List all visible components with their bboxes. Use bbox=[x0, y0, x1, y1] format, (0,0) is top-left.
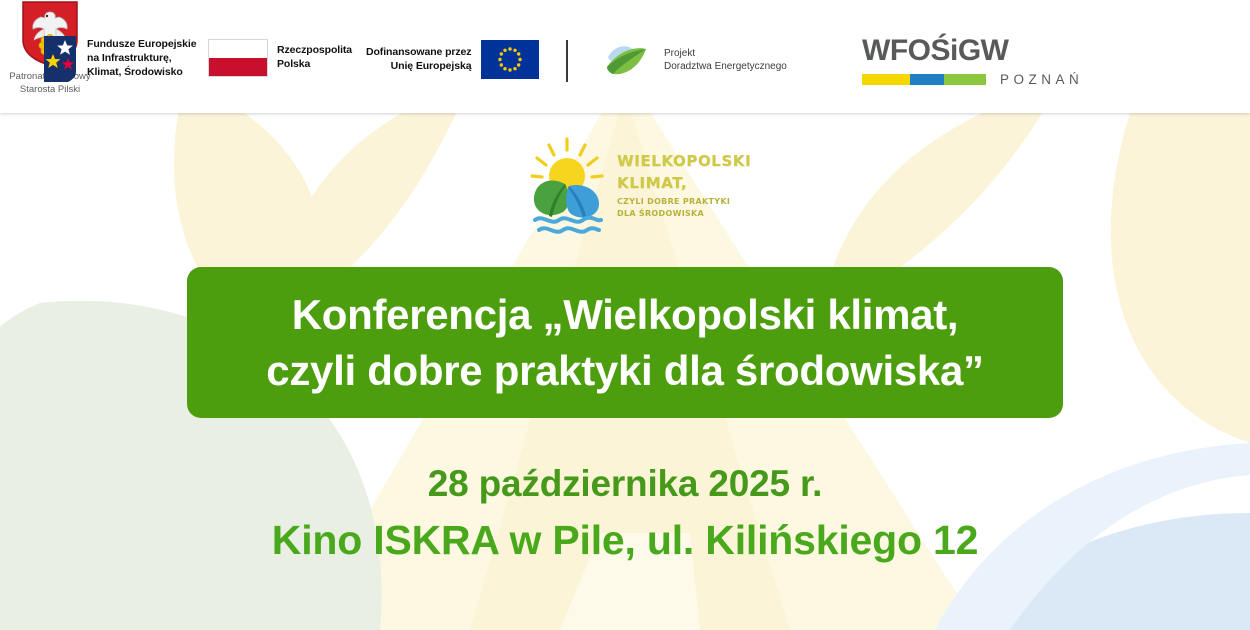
brand-logo-line-4: DLA ŚRODOWISKA bbox=[617, 210, 751, 218]
vertical-divider bbox=[566, 40, 568, 82]
logo-rzeczpospolita-polska: Rzeczpospolita Polska bbox=[208, 39, 352, 77]
logo-label-dofinansowane-ue: Dofinansowane przez Unię Europejską bbox=[366, 46, 471, 74]
poland-flag-icon bbox=[208, 39, 268, 77]
logo-dofinansowane-ue: Dofinansowane przez Unię Europejską bbox=[366, 40, 539, 79]
brand-logo-line-1: WIELKOPOLSKI bbox=[617, 154, 751, 169]
event-venue: Kino ISKRA w Pile, ul. Kilińskiego 12 bbox=[0, 516, 1250, 564]
conference-poster: Fundusze Europejskie na Infrastrukturę, … bbox=[0, 0, 1250, 630]
fundusze-europejskie-stars-logo bbox=[42, 34, 78, 84]
partner-logo-bar: Fundusze Europejskie na Infrastrukturę, … bbox=[0, 0, 1250, 113]
logo-label-fundusze-europejskie: Fundusze Europejskie na Infrastrukturę, … bbox=[87, 38, 196, 80]
logo-label-projekt-doradztwa-energetycznego: Projekt Doradztwa Energetycznego bbox=[664, 47, 787, 74]
logo-wfosigw-poznan: WFOŚiGW POZNAŃ bbox=[862, 36, 1083, 87]
logo-label-rzeczpospolita-polska: Rzeczpospolita Polska bbox=[277, 44, 352, 72]
conference-title-banner: Konferencja „Wielkopolski klimat, czyli … bbox=[187, 267, 1063, 418]
logo-projekt-doradztwa-energetycznego: Projekt Doradztwa Energetycznego bbox=[604, 40, 787, 80]
brand-logo-line-2: KLIMAT, bbox=[617, 176, 751, 191]
eu-flag-icon bbox=[481, 40, 539, 79]
brand-logo-wielkopolski-klimat: WIELKOPOLSKI KLIMAT, CZYLI DOBRE PRAKTYK… bbox=[521, 133, 736, 238]
wfosigw-city-label: POZNAŃ bbox=[1000, 72, 1083, 87]
event-details: 28 października 2025 r. Kino ISKRA w Pil… bbox=[0, 462, 1250, 564]
conference-title-line-1: Konferencja „Wielkopolski klimat, bbox=[292, 287, 959, 343]
logo-fundusze-europejskie: Fundusze Europejskie na Infrastrukturę, … bbox=[42, 34, 196, 84]
wfosigw-wordmark: WFOŚiGW bbox=[862, 36, 1083, 66]
conference-title-line-2: czyli dobre praktyki dla środowiska” bbox=[266, 343, 983, 399]
wfosigw-color-bars bbox=[862, 74, 986, 85]
sun-leaf-water-icon bbox=[521, 136, 613, 236]
brand-logo-line-3: CZYLI DOBRE PRAKTYKI bbox=[617, 198, 751, 206]
brand-logo-wordmark: WIELKOPOLSKI KLIMAT, CZYLI DOBRE PRAKTYK… bbox=[617, 154, 751, 218]
event-date: 28 października 2025 r. bbox=[0, 462, 1250, 506]
leaf-hill-icon bbox=[604, 40, 656, 80]
